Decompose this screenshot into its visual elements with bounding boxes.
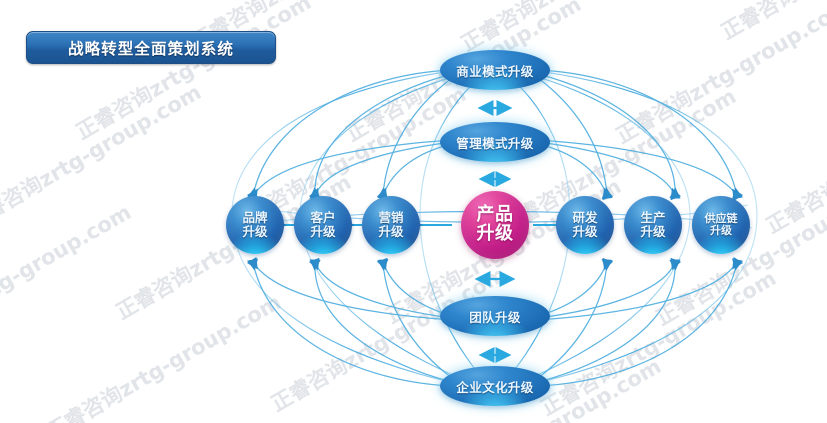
page-title: 战略转型全面策划系统 <box>26 31 276 64</box>
node-management-model-upgrade[interactable]: 管理模式升级 <box>440 122 550 162</box>
node-customer-upgrade[interactable]: 客户升级 <box>294 196 352 254</box>
node-rnd-upgrade[interactable]: 研发升级 <box>556 196 614 254</box>
node-label: 营销升级 <box>378 211 403 239</box>
node-production-upgrade[interactable]: 生产升级 <box>624 196 682 254</box>
node-marketing-upgrade[interactable]: 营销升级 <box>362 196 420 254</box>
node-label: 生产升级 <box>640 211 665 239</box>
node-label: 管理模式升级 <box>456 133 533 152</box>
node-corporate-culture-upgrade[interactable]: 企业文化升级 <box>440 366 550 406</box>
node-label: 产品升级 <box>477 206 514 243</box>
node-label: 研发升级 <box>572 211 597 239</box>
node-label: 供应链升级 <box>705 213 738 238</box>
node-team-upgrade[interactable]: 团队升级 <box>440 296 550 336</box>
node-label: 团队升级 <box>469 307 521 326</box>
node-business-model-upgrade[interactable]: 商业模式升级 <box>440 50 550 90</box>
node-brand-upgrade[interactable]: 品牌升级 <box>226 196 284 254</box>
node-product-upgrade-hub[interactable]: 产品升级 <box>461 191 529 259</box>
node-supply-chain-upgrade[interactable]: 供应链升级 <box>692 196 750 254</box>
node-label: 品牌升级 <box>242 211 267 239</box>
node-label: 企业文化升级 <box>456 377 533 396</box>
node-label: 商业模式升级 <box>456 61 533 80</box>
node-label: 客户升级 <box>310 211 335 239</box>
page-title-text: 战略转型全面策划系统 <box>68 37 234 59</box>
diagram-canvas: 正睿咨询zrtg-group.com正睿咨询zrtg-group.com正睿咨询… <box>0 0 827 423</box>
